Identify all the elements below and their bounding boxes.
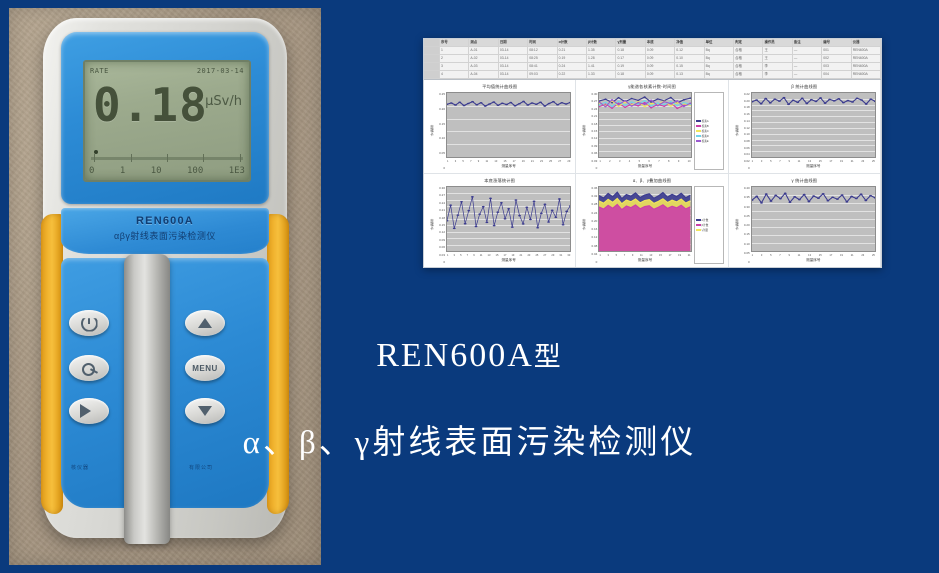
x-tick: 21 <box>851 160 854 163</box>
series-point <box>463 105 466 107</box>
x-tick: 13 <box>808 160 811 163</box>
table-cell: 李 <box>763 63 792 70</box>
series-point <box>657 98 659 100</box>
legend-swatch <box>696 135 701 138</box>
x-tick: 21 <box>519 254 522 257</box>
table-cell: A-03 <box>469 63 498 70</box>
table-cell: 03-14 <box>499 63 528 70</box>
y-tick: 0 <box>434 166 445 170</box>
series-point <box>663 104 665 106</box>
series-point <box>637 105 639 107</box>
table-header-cell: 编号 <box>822 39 851 46</box>
series-point <box>821 193 824 195</box>
series-point <box>670 101 672 103</box>
table-cell: Bq <box>705 63 734 70</box>
y-tick: 0.09 <box>586 144 597 148</box>
series-point <box>504 218 507 220</box>
lcd-status-bar: RATE 2017-03-14 <box>90 65 244 77</box>
series-point <box>464 223 467 225</box>
legend-label: 核素B <box>702 124 709 128</box>
x-tick: 3 <box>455 160 456 163</box>
series-point <box>807 201 810 203</box>
series-point <box>489 198 492 200</box>
series-point <box>802 194 805 196</box>
series-point <box>823 102 826 104</box>
lcd-scale-4: 1E3 <box>229 166 245 176</box>
table-cell: 1.35 <box>587 47 616 54</box>
series-point <box>511 226 514 228</box>
legend-item: α计数 <box>696 218 722 222</box>
software-screenshot-panel: 序号测点日期时间α计数β计数γ剂量本底净值单位判定操作员备注编号仪器1A-010… <box>423 38 882 268</box>
table-cell: 0.21 <box>558 47 587 54</box>
table-cell: — <box>793 63 822 70</box>
series-point <box>605 106 607 108</box>
series-point <box>618 105 620 107</box>
table-row: 2A-0203-1408:250.191.280.170.090.10Bq合格王… <box>424 55 881 63</box>
x-tick: 5 <box>616 254 617 257</box>
x-tick: 15 <box>659 254 662 257</box>
table-cell: A-04 <box>469 71 498 78</box>
legend-label: γ剂量 <box>702 228 708 232</box>
x-tick: 1 <box>599 254 600 257</box>
series-point <box>644 102 646 104</box>
series-point <box>624 107 626 109</box>
y-tick: 0.05 <box>739 251 750 255</box>
chart-y-ticks: 0.400.350.300.250.200.150.100.050 <box>739 186 751 264</box>
series-point <box>644 100 646 102</box>
table-cell: 合格 <box>734 71 763 78</box>
x-tick: 7 <box>470 160 471 163</box>
series-point <box>650 99 652 101</box>
x-tick: 15 <box>819 160 822 163</box>
x-tick: 5 <box>770 254 771 257</box>
series-point <box>670 105 672 107</box>
legend-swatch <box>696 219 701 222</box>
table-cell: 0.13 <box>675 71 704 78</box>
x-tick: 17 <box>829 160 832 163</box>
x-tick: 21 <box>688 254 691 257</box>
x-tick: 27 <box>543 254 546 257</box>
y-tick: 0.08 <box>739 139 750 143</box>
x-tick: 17 <box>829 254 832 257</box>
y-tick: 0.12 <box>586 136 597 140</box>
series-point <box>449 204 452 206</box>
x-tick: 23 <box>861 254 864 257</box>
chart-title: β 统计曲线图 <box>733 84 876 90</box>
series-point <box>860 99 863 101</box>
lcd-scale-1: 1 <box>120 166 125 176</box>
y-tick: 0.30 <box>434 186 445 190</box>
chart-x-axis-label: 测量序号 <box>751 164 876 170</box>
series-point <box>529 219 532 221</box>
measurement-data-table: 序号测点日期时间α计数β计数γ剂量本底净值单位判定操作员备注编号仪器1A-010… <box>424 39 881 80</box>
legend-item: 核素A <box>696 119 722 123</box>
slide-root: RATE 2017-03-14 0.18 μSv/h 0 <box>0 0 939 573</box>
table-cell: 0.19 <box>616 63 645 70</box>
legend-item: β计数 <box>696 223 722 227</box>
up-button[interactable] <box>185 310 225 336</box>
y-tick: 0.20 <box>434 107 445 111</box>
series-point <box>850 196 853 198</box>
series-point <box>845 201 848 203</box>
series-point <box>774 195 777 197</box>
x-tick: 9 <box>632 254 633 257</box>
table-header-cell: α计数 <box>558 39 587 46</box>
series-point <box>631 101 633 103</box>
table-cell: 0.10 <box>675 55 704 62</box>
legend-item: γ剂量 <box>696 228 722 232</box>
row-marker <box>424 63 440 70</box>
y-tick: 0.12 <box>739 126 750 130</box>
x-tick: 10 <box>688 160 691 163</box>
chart-plot-area <box>751 186 876 252</box>
lcd-scale-0: 0 <box>89 166 94 176</box>
series-point <box>547 221 550 223</box>
y-tick: 0.32 <box>586 194 597 198</box>
y-tick: 0.22 <box>739 92 750 96</box>
series-point <box>543 204 546 206</box>
table-cell: 0.24 <box>558 63 587 70</box>
x-tick: 1 <box>752 160 753 163</box>
series-point <box>831 196 834 198</box>
chart-gamma-right-bottom: γ 统计曲线图计数率0.400.350.300.250.200.150.100.… <box>729 174 881 268</box>
y-tick: 0 <box>586 166 597 170</box>
y-tick: 0 <box>434 260 445 264</box>
legend-label: 核素A <box>702 119 709 123</box>
series-point <box>677 105 679 107</box>
series-point <box>543 105 546 107</box>
legend-swatch <box>696 229 701 232</box>
chart-legend: 核素A核素B核素C核素D核素E <box>694 92 724 170</box>
power-icon <box>81 315 98 332</box>
table-header-cell: 操作员 <box>763 39 792 46</box>
legend-label: β计数 <box>702 223 709 227</box>
chart-area-bottom-middle: α、β、γ叠加曲线图计数率0.360.320.280.240.200.160.1… <box>576 174 728 268</box>
table-cell: REN600A <box>852 47 881 54</box>
series-point <box>618 101 620 103</box>
series-point <box>605 102 607 104</box>
model-suffix: 型 <box>534 342 563 372</box>
x-tick: 5 <box>462 160 463 163</box>
table-header-cell: 仪器 <box>852 39 881 46</box>
y-tick: 0.25 <box>434 92 445 96</box>
chart-legend: α计数β计数γ剂量 <box>694 186 724 264</box>
series-point <box>670 103 672 105</box>
chart-series-group <box>447 93 570 157</box>
table-cell: 3 <box>440 63 469 70</box>
series-point <box>475 104 478 106</box>
x-tick: 7 <box>624 254 625 257</box>
y-tick: 0.10 <box>739 132 750 136</box>
table-cell: 1.33 <box>587 71 616 78</box>
chart-y-ticks: 0.300.270.240.210.180.150.120.090.060.03… <box>434 186 446 264</box>
y-tick: 0.18 <box>434 216 445 220</box>
device-nameplate: REN600A αβγ射线表面污染检测仪 <box>61 208 269 254</box>
chart-x-axis-label: 测量序号 <box>446 258 571 264</box>
x-tick: 25 <box>549 160 552 163</box>
table-cell: 08:12 <box>528 47 557 54</box>
chart-plot-area <box>446 186 571 252</box>
series-point <box>471 101 474 103</box>
series-point <box>484 105 487 107</box>
series-point <box>611 106 613 108</box>
x-tick: 1 <box>447 254 448 257</box>
series-point <box>531 102 534 104</box>
series-point <box>637 102 639 104</box>
x-tick: 27 <box>558 160 561 163</box>
x-tick: 11 <box>485 160 488 163</box>
x-tick: 13 <box>488 254 491 257</box>
table-cell: 王 <box>763 55 792 62</box>
series-point <box>618 97 620 99</box>
series-point <box>533 201 536 203</box>
series-point <box>657 102 659 104</box>
series-point <box>624 100 626 102</box>
series-point <box>805 103 808 105</box>
chart-title: 平均值统计曲线图 <box>428 84 571 90</box>
table-cell: 08:25 <box>528 55 557 62</box>
series-point <box>869 195 872 197</box>
chart-multi-nuclide: γ能谱各核素计数-时间图计数率0.300.270.240.210.180.150… <box>576 80 728 174</box>
chart-y-axis-label: 计数率 <box>580 92 586 170</box>
series-point <box>565 103 568 105</box>
y-tick: 0 <box>739 260 750 264</box>
series-point <box>624 105 626 107</box>
y-tick: 0.15 <box>434 223 445 227</box>
table-cell: 0.12 <box>675 47 704 54</box>
chart-series-group <box>752 93 875 157</box>
x-tick: 11 <box>798 254 801 257</box>
series-point <box>677 100 679 102</box>
series-point <box>851 101 854 103</box>
table-cell: 1.41 <box>587 63 616 70</box>
y-tick: 0.20 <box>739 223 750 227</box>
series-point <box>768 102 771 104</box>
series-point <box>778 100 781 102</box>
x-tick: 7 <box>467 254 468 257</box>
series-point <box>859 193 862 195</box>
series-point <box>493 225 496 227</box>
chart-x-axis-label: 测量序号 <box>598 164 691 170</box>
legend-item: 核素D <box>696 134 722 138</box>
series-point <box>755 196 758 198</box>
chart-title: α、β、γ叠加曲线图 <box>580 178 723 184</box>
y-tick: 0.15 <box>739 232 750 236</box>
y-tick: 0.18 <box>739 105 750 109</box>
gridline <box>599 157 690 158</box>
series-point <box>453 228 456 230</box>
table-cell: 0.22 <box>558 71 587 78</box>
series-point <box>810 99 813 101</box>
series-point <box>787 104 790 106</box>
series-point <box>637 99 639 101</box>
series-point <box>540 212 543 214</box>
table-header-cell: γ剂量 <box>616 39 645 46</box>
series-point <box>548 103 551 105</box>
series-point <box>826 200 829 202</box>
table-cell: 0.15 <box>675 63 704 70</box>
series-point <box>869 98 872 100</box>
series-point <box>447 220 448 222</box>
x-tick: 1 <box>447 160 448 163</box>
x-tick: 2 <box>609 160 610 163</box>
product-description-title: α、β、γ射线表面污染检测仪 <box>0 415 939 463</box>
y-tick: 0.27 <box>586 99 597 103</box>
legend-swatch <box>696 224 701 227</box>
series-point <box>677 102 679 104</box>
x-tick: 11 <box>640 254 643 257</box>
table-cell: 0.09 <box>646 55 675 62</box>
chart-y-ticks: 0.250.200.150.100.050 <box>434 92 446 170</box>
series-point <box>467 210 470 212</box>
table-cell: Bq <box>705 71 734 78</box>
series-point <box>539 101 542 103</box>
x-tick: 21 <box>851 254 854 257</box>
table-cell: 1 <box>440 47 469 54</box>
chart-y-ticks: 0.360.320.280.240.200.160.120.080.040 <box>586 186 598 264</box>
series-point <box>837 98 840 100</box>
table-cell: 0.18 <box>616 47 645 54</box>
series-point <box>788 201 791 203</box>
series-point <box>522 223 525 225</box>
legend-label: 核素C <box>702 129 709 133</box>
y-tick: 0.09 <box>434 238 445 242</box>
table-cell: 03-14 <box>499 55 528 62</box>
lcd-bargraph <box>91 157 243 160</box>
series-point <box>450 102 453 104</box>
table-header-cell: 备注 <box>793 39 822 46</box>
x-tick: 5 <box>639 160 640 163</box>
x-tick: 5 <box>460 254 461 257</box>
legend-item: 核素B <box>696 124 722 128</box>
table-cell: REN600A <box>852 55 881 62</box>
series-point <box>796 102 799 104</box>
y-tick: 0.10 <box>434 136 445 140</box>
series-point <box>618 104 620 106</box>
series-point <box>480 102 483 104</box>
chart-grid: 平均值统计曲线图计数率0.250.200.150.100.05013579111… <box>424 80 881 268</box>
series-point <box>560 102 563 104</box>
chart-x-axis-label: 测量序号 <box>446 164 571 170</box>
x-tick: 8 <box>668 160 669 163</box>
series-point <box>488 103 491 105</box>
y-tick: 0.14 <box>739 119 750 123</box>
series-point <box>482 206 485 208</box>
series-point <box>650 103 652 105</box>
series-point <box>456 214 459 216</box>
series-point <box>836 198 839 200</box>
x-tick: 7 <box>779 160 780 163</box>
x-tick: 19 <box>522 160 525 163</box>
x-tick: 19 <box>511 254 514 257</box>
series-point <box>514 105 517 107</box>
x-tick: 13 <box>649 254 652 257</box>
legend-label: 核素D <box>702 134 709 138</box>
y-tick: 0.16 <box>586 227 597 231</box>
x-tick: 9 <box>788 160 789 163</box>
table-cell: 合格 <box>734 63 763 70</box>
table-cell: 003 <box>822 63 851 70</box>
table-cell: 1.28 <box>587 55 616 62</box>
x-tick: 19 <box>840 254 843 257</box>
table-cell: 李 <box>763 71 792 78</box>
chart-scatter-bottom-left: 本底涨落统计图计数率0.300.270.240.210.180.150.120.… <box>424 174 576 268</box>
series-point <box>496 211 499 213</box>
device-display-bezel: RATE 2017-03-14 0.18 μSv/h 0 <box>61 32 269 204</box>
series-point <box>793 196 796 198</box>
series-point <box>663 101 665 103</box>
x-tick: 15 <box>819 254 822 257</box>
x-tick: 15 <box>496 254 499 257</box>
x-tick: 11 <box>480 254 483 257</box>
table-cell: 合格 <box>734 55 763 62</box>
table-cell: 0.18 <box>616 71 645 78</box>
table-cell: REN600A <box>852 71 881 78</box>
table-cell: 0.17 <box>616 55 645 62</box>
table-cell: 08:41 <box>528 63 557 70</box>
series-point <box>507 208 510 210</box>
y-tick: 0.06 <box>434 245 445 249</box>
chart-series-group <box>752 187 875 251</box>
series-point <box>670 97 672 99</box>
y-tick: 0.06 <box>586 151 597 155</box>
x-tick: 1 <box>599 160 600 163</box>
y-tick: 0.30 <box>739 205 750 209</box>
x-tick: 19 <box>678 254 681 257</box>
lcd-scale-2: 10 <box>151 166 162 176</box>
y-tick: 0.12 <box>586 235 597 239</box>
chart-y-ticks: 0.220.200.180.160.140.120.100.080.060.04… <box>739 92 751 170</box>
power-button[interactable] <box>69 310 109 336</box>
table-cell: Bq <box>705 55 734 62</box>
series-point <box>760 202 763 204</box>
table-cell: 002 <box>822 55 851 62</box>
table-header-cell: 序号 <box>440 39 469 46</box>
x-tick: 31 <box>559 254 562 257</box>
legend-label: 核素E <box>702 139 709 143</box>
series-point <box>526 104 529 106</box>
series-point <box>663 105 665 107</box>
y-tick: 0.12 <box>434 230 445 234</box>
chart-title: γ能谱各核素计数-时间图 <box>580 84 723 90</box>
row-marker <box>424 39 440 46</box>
table-header-cell: 时间 <box>528 39 557 46</box>
series-area <box>599 204 690 251</box>
table-cell: 4 <box>440 71 469 78</box>
gridline <box>447 157 570 158</box>
y-tick: 0.20 <box>739 99 750 103</box>
y-tick: 0 <box>586 260 597 264</box>
series-line <box>447 101 570 106</box>
legend-swatch <box>696 120 701 123</box>
series-point <box>558 198 561 200</box>
legend-item: 核素C <box>696 129 722 133</box>
table-cell: — <box>793 71 822 78</box>
series-point <box>832 100 835 102</box>
series-point <box>536 227 539 229</box>
y-tick: 0.21 <box>434 208 445 212</box>
table-cell: — <box>793 55 822 62</box>
series-point <box>501 102 504 104</box>
lcd-scale-3: 100 <box>187 166 203 176</box>
y-tick: 0.04 <box>739 152 750 156</box>
product-photo: RATE 2017-03-14 0.18 μSv/h 0 <box>9 8 321 565</box>
series-point <box>864 103 867 105</box>
series-point <box>509 102 512 104</box>
y-tick: 0.05 <box>434 151 445 155</box>
lcd-reading-unit: μSv/h <box>205 94 242 109</box>
lcd-scale-labels: 0 1 10 100 1E3 <box>89 165 245 177</box>
